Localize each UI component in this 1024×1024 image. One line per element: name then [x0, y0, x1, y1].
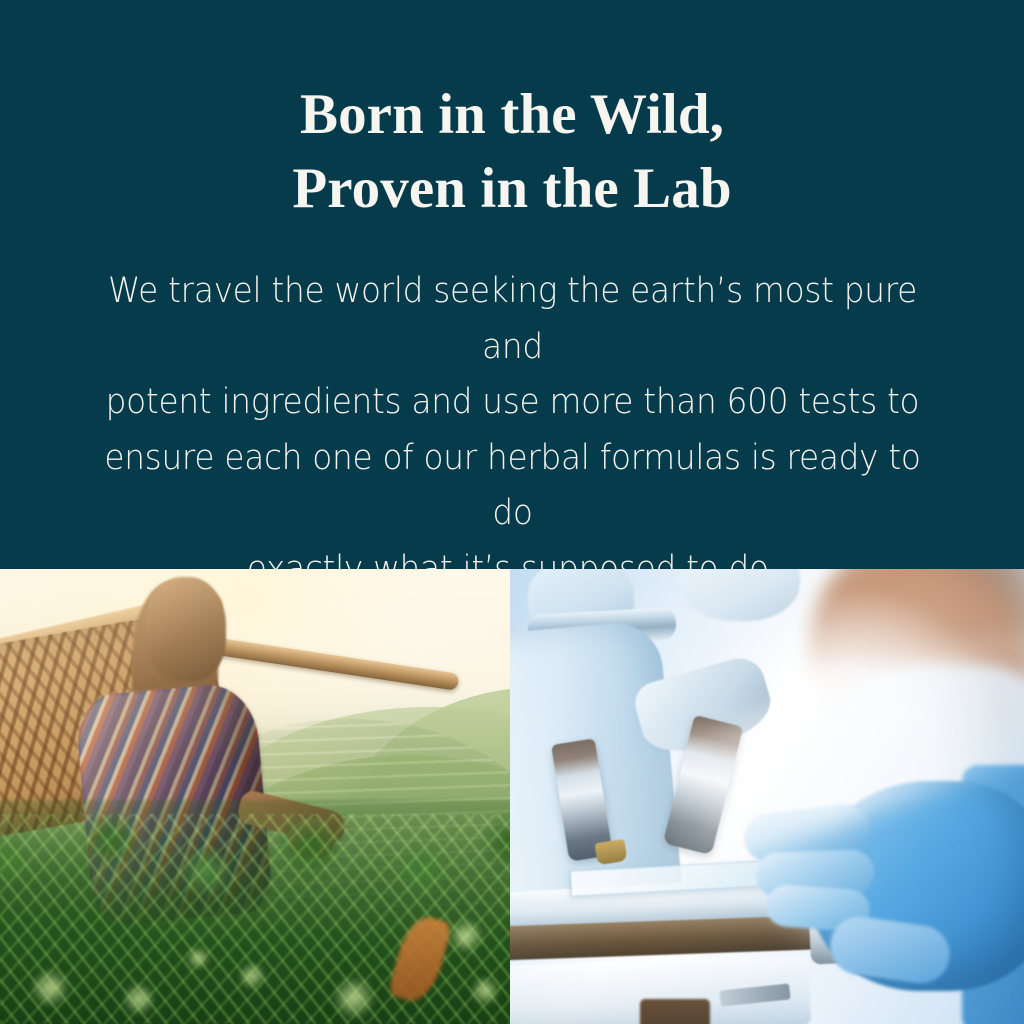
body-line-2: potent ingredients and use more than 600…	[89, 375, 935, 431]
base-shadow-block	[640, 999, 710, 1024]
laboratory-microscope-photo	[510, 569, 1024, 1024]
bokeh-highlight	[448, 918, 484, 954]
bokeh-highlight	[122, 982, 156, 1016]
bokeh-highlight	[30, 968, 70, 1008]
bokeh-highlight	[186, 946, 210, 970]
harvester-head	[146, 577, 226, 681]
photo-band	[0, 569, 1024, 1024]
tea-harvest-photo	[0, 569, 510, 1024]
headline-line-2: Proven in the Lab	[62, 152, 962, 226]
headline-line-1: Born in the Wild,	[62, 78, 962, 152]
bokeh-highlight	[332, 976, 376, 1020]
bokeh-highlight	[238, 962, 266, 990]
body-line-1: We travel the world seeking the earth’s …	[89, 264, 935, 375]
body-copy: We travel the world seeking the earth’s …	[89, 264, 935, 597]
page-title: Born in the Wild, Proven in the Lab	[62, 78, 962, 226]
bokeh-highlight	[470, 976, 500, 1006]
text-panel: Born in the Wild, Proven in the Lab We t…	[0, 0, 1024, 569]
brand-promo-card: Born in the Wild, Proven in the Lab We t…	[0, 0, 1024, 1024]
body-line-3: ensure each one of our herbal formulas i…	[89, 431, 935, 542]
